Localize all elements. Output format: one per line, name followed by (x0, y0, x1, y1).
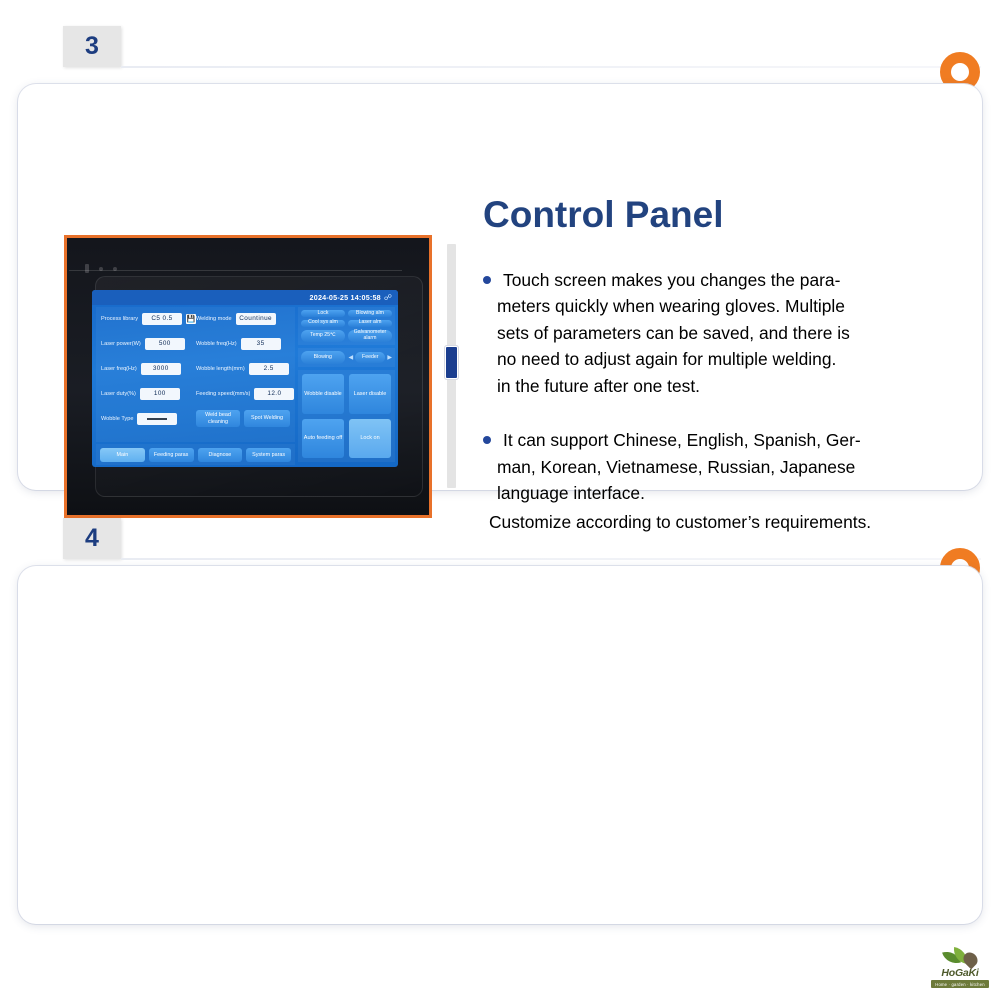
housing-port-icon (85, 264, 89, 273)
param-label: Welding mode (196, 316, 232, 322)
tab-main[interactable]: Main (100, 448, 145, 462)
laser-disable-toggle[interactable]: Laser disable (349, 374, 391, 414)
param-label: Laser duty(%) (101, 391, 136, 397)
param-label: Wobble length(mm) (196, 366, 245, 372)
param-label: Process library (101, 316, 138, 322)
param-value-laser-freq[interactable]: 3000 (141, 363, 181, 375)
tab-system-paras[interactable]: System paras (246, 448, 291, 462)
param-value-laser-duty[interactable]: 100 (140, 388, 180, 400)
brand-logo: HoGaKi Home · garden · kitchen (924, 943, 996, 993)
param-label: Feeding speed(mm/s) (196, 391, 250, 397)
param-cell-welding-mode[interactable]: Welding mode Countinue (196, 313, 295, 325)
param-value-feeding-speed[interactable]: 12.0 (254, 388, 294, 400)
bluetooth-icon: ☍ (384, 294, 392, 302)
param-cell-laser-duty[interactable]: Laser duty(%) 100 (96, 388, 196, 400)
bullet-line: in the future after one test. (497, 373, 981, 399)
param-value-wobble-length[interactable]: 2.5 (249, 363, 289, 375)
param-label: Wobble Type (101, 416, 133, 422)
param-cell-wobble-type[interactable]: Wobble Type (96, 413, 196, 425)
blowing-alarm-indicator[interactable]: Blowing alm (348, 310, 392, 317)
bullet-spacer (481, 399, 981, 427)
param-cell-feeding-speed[interactable]: Feeding speed(mm/s) 12.0 (196, 388, 295, 400)
bullet-item: It can support Chinese, English, Spanish… (481, 427, 981, 506)
spot-welding-button[interactable]: Spot Welding (244, 410, 290, 427)
save-icon[interactable]: 💾 (186, 314, 196, 324)
param-row: Laser freq(Hz) 3000 Wobble length(mm) 2.… (96, 357, 295, 380)
bullet-line: sets of parameters can be saved, and the… (497, 320, 981, 346)
hmi-clock: 2024-05-25 14:05:58 (310, 293, 381, 302)
param-label: Wobble freq(Hz) (196, 341, 237, 347)
galvanometer-alarm-indicator[interactable]: Galvanometer alarm (348, 330, 392, 342)
param-value-wobble-freq[interactable]: 35 (241, 338, 281, 350)
param-value-laser-power[interactable]: 500 (145, 338, 185, 350)
hmi-alarm-group: Lock Blowing alm Cool sys alm Laser alm … (298, 307, 395, 345)
param-cell-laser-power[interactable]: Laser power(W) 500 (96, 338, 196, 350)
wobble-line-icon (147, 418, 167, 420)
hmi-toggle-group: Wobble disable Laser disable Auto feedin… (298, 370, 395, 462)
hmi-status-bar: 2024-05-25 14:05:58 ☍ (92, 290, 398, 305)
param-cell-process-library[interactable]: Process library C5 0.5 💾 (96, 313, 196, 325)
param-cell-laser-freq[interactable]: Laser freq(Hz) 3000 (96, 363, 196, 375)
feeder-control: ◀ Feeder ▶ (349, 351, 393, 364)
weld-bead-cleaning-button[interactable]: Weld bead cleaning (196, 410, 240, 427)
param-value-welding-mode[interactable]: Countinue (236, 313, 276, 325)
section-number-badge-4: 4 (63, 518, 121, 559)
hmi-tab-bar: Main Feeding paras Diagnose System paras (96, 444, 295, 465)
param-label: Laser power(W) (101, 341, 141, 347)
bullet-item: Touch screen makes you changes the para-… (481, 267, 981, 399)
param-value-wobble-type[interactable] (137, 413, 177, 425)
bullet-line: It can support Chinese, English, Spanish… (503, 427, 981, 453)
section-card-control-switch: Control Switch Simplified swith system, … (18, 566, 982, 924)
bullet-list-control-panel: Touch screen makes you changes the para-… (481, 267, 981, 535)
page-title-control-panel: Control Panel (483, 194, 724, 236)
bullet-item-note: Customize according to customer’s requir… (467, 509, 981, 535)
logo-mark-icon (943, 948, 977, 968)
logo-wordmark: HoGaKi (941, 968, 978, 979)
section-divider-3 (121, 66, 981, 68)
blowing-button[interactable]: Blowing (301, 351, 345, 364)
scrollbar-thumb[interactable] (445, 346, 458, 379)
param-row: Process library C5 0.5 💾 Welding mode Co… (96, 307, 295, 330)
hmi-status-panel: Lock Blowing alm Cool sys alm Laser alm … (298, 307, 395, 464)
housing-led-1 (99, 267, 103, 271)
laser-alarm-indicator[interactable]: Laser alm (348, 320, 392, 327)
housing-highlight-line (69, 270, 402, 271)
section-number-badge-3: 3 (63, 26, 121, 67)
section-divider-4 (121, 558, 981, 560)
param-row: Laser power(W) 500 Wobble freq(Hz) 35 (96, 332, 295, 355)
param-label: Laser freq(Hz) (101, 366, 137, 372)
bullet-line: language interface. (497, 480, 981, 506)
bullet-line: Customize according to customer’s requir… (489, 509, 981, 535)
param-cell-wobble-length[interactable]: Wobble length(mm) 2.5 (196, 363, 295, 375)
bullet-line: meters quickly when wearing gloves. Mult… (497, 293, 981, 319)
section-card-control-panel: 2024-05-25 14:05:58 ☍ Process library C5… (18, 84, 982, 490)
hmi-parameter-grid: Process library C5 0.5 💾 Welding mode Co… (96, 307, 295, 442)
param-row: Laser duty(%) 100 Feeding speed(mm/s) 12… (96, 382, 295, 405)
auto-feeding-toggle[interactable]: Auto feeding off (302, 419, 344, 459)
arrow-right-icon[interactable]: ▶ (387, 354, 392, 361)
control-panel-photo: 2024-05-25 14:05:58 ☍ Process library C5… (64, 235, 432, 518)
slide-page: 3 2024-05-25 14:05:58 ☍ Process library (0, 0, 1000, 1000)
param-value-process-library[interactable]: C5 0.5 (142, 313, 182, 325)
tab-diagnose[interactable]: Diagnose (198, 448, 243, 462)
bullet-line: Touch screen makes you changes the para- (503, 267, 981, 293)
temperature-indicator[interactable]: Temp 25℃ (301, 330, 345, 342)
tab-feeding-paras[interactable]: Feeding paras (149, 448, 194, 462)
param-cell-wobble-freq[interactable]: Wobble freq(Hz) 35 (196, 338, 295, 350)
param-row: Wobble Type Weld bead cleaning Spot Weld… (96, 407, 295, 430)
hmi-touch-screen[interactable]: 2024-05-25 14:05:58 ☍ Process library C5… (92, 290, 398, 467)
cool-sys-alarm-indicator[interactable]: Cool sys alm (301, 320, 345, 327)
scrollbar-section-3[interactable] (447, 244, 456, 488)
feeder-button[interactable]: Feeder (355, 352, 385, 363)
bullet-line: man, Korean, Vietnamese, Russian, Japane… (497, 454, 981, 480)
wobble-disable-toggle[interactable]: Wobble disable (302, 374, 344, 414)
arrow-left-icon[interactable]: ◀ (349, 354, 354, 361)
housing-led-2 (113, 267, 117, 271)
logo-tagline: Home · garden · kitchen (931, 980, 989, 988)
bullet-line: no need to adjust again for multiple wel… (497, 346, 981, 372)
lock-on-toggle[interactable]: Lock on (349, 419, 391, 459)
lock-indicator[interactable]: Lock (301, 310, 345, 317)
hmi-feeder-group: Blowing ◀ Feeder ▶ (298, 348, 395, 367)
param-action-buttons: Weld bead cleaning Spot Welding (196, 410, 295, 427)
